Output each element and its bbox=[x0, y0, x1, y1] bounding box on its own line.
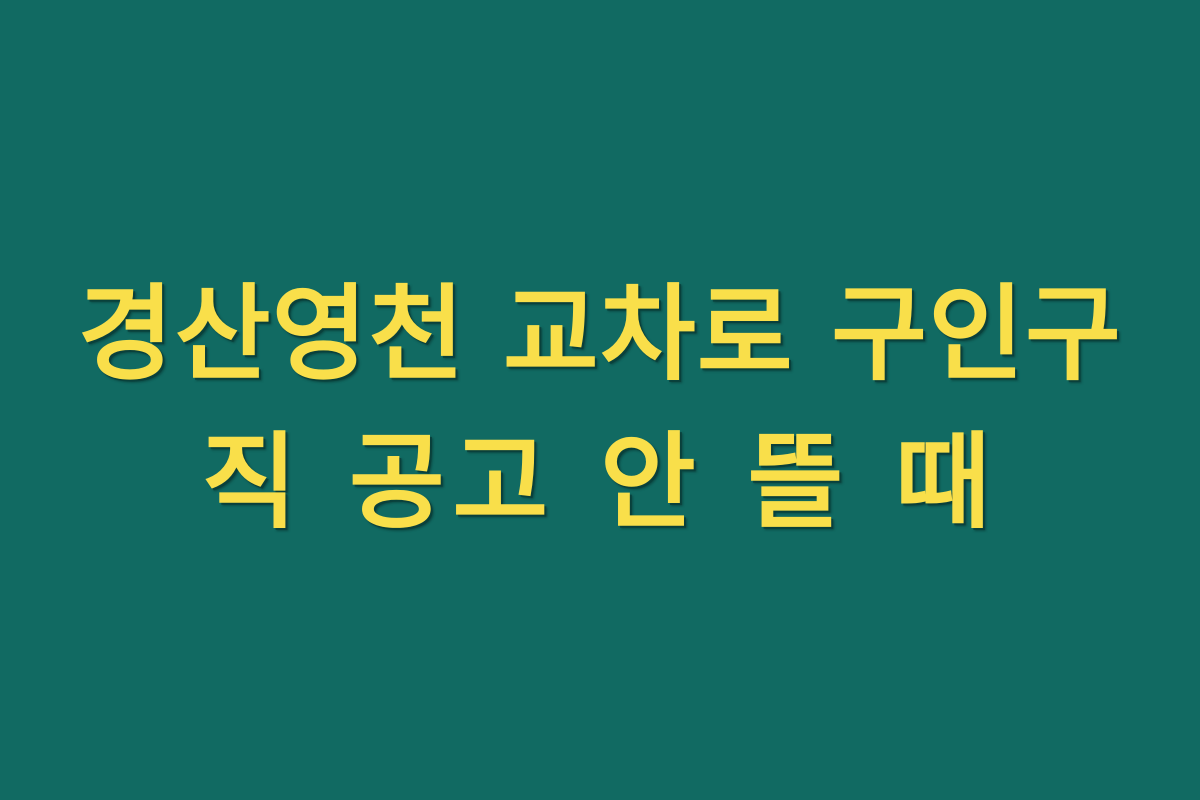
headline-line-1: 경산영천 교차로 구인구 bbox=[0, 261, 1200, 409]
headline-text-block: 경산영천 교차로 구인구 직 공고 안 뜰 때 bbox=[0, 0, 1200, 800]
banner-canvas: 경산영천 교차로 구인구 직 공고 안 뜰 때 bbox=[0, 0, 1200, 800]
headline-line-2: 직 공고 안 뜰 때 bbox=[0, 409, 1200, 557]
